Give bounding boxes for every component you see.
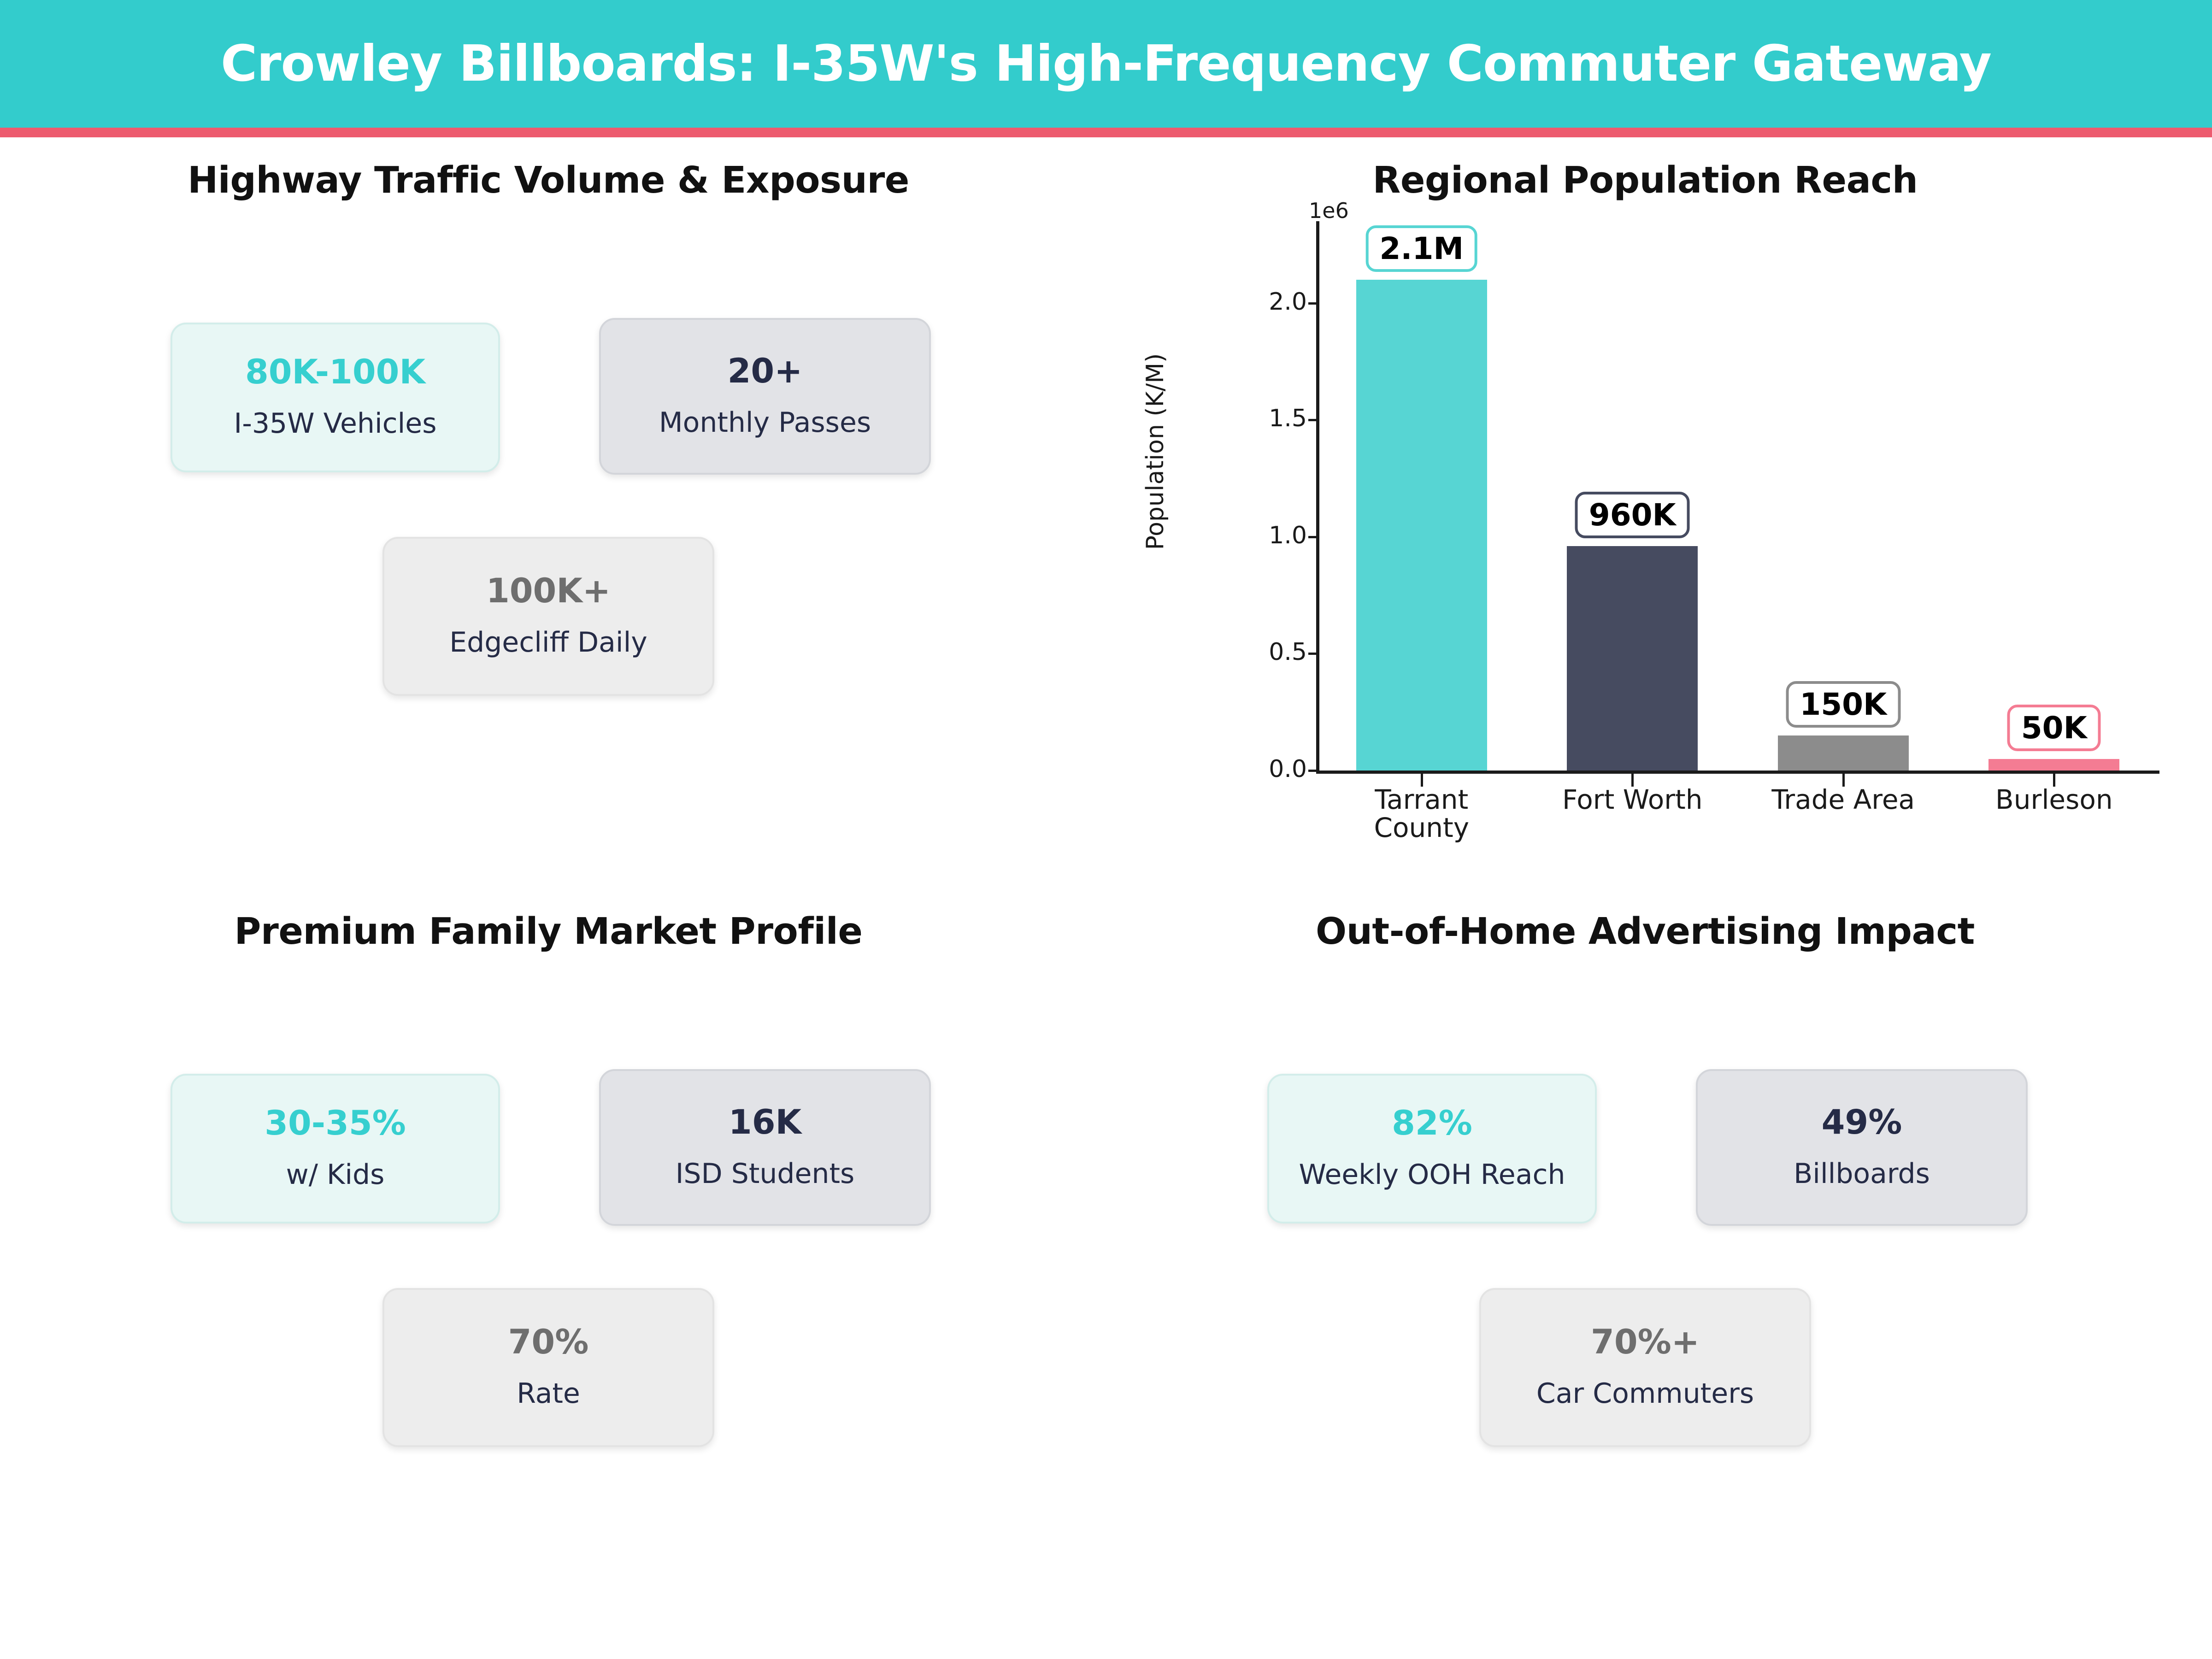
bar-4 [1988,759,2119,771]
x-tick-label-3: Trade Area [1771,786,1915,814]
panel-title-family-market: Premium Family Market Profile [28,910,1069,953]
stat-value: 70% [508,1325,589,1359]
stat-card-rate: 70% Rate [382,1288,714,1447]
bar-1 [1356,280,1487,771]
stat-label: Edgecliff Daily [449,626,647,659]
header-bar: Crowley Billboards: I-35W's High-Frequen… [0,0,2212,128]
stat-card-billboards: 49% Billboards [1696,1069,2028,1226]
y-tick-label: 1.5 [1259,405,1307,432]
bar-value-label-2: 960K [1575,492,1690,538]
stat-card-isd-students: 16K ISD Students [599,1069,931,1226]
axis-offset-label: 1e6 [1309,198,1349,223]
bar-value-label-1: 2.1M [1365,225,1477,272]
stat-label: Car Commuters [1536,1377,1754,1410]
y-axis-label: Population (K/M) [1141,309,1169,594]
stat-label: ISD Students [676,1158,855,1190]
stat-value: 30-35% [265,1106,406,1140]
stat-label: I-35W Vehicles [234,407,437,440]
stat-value: 16K [729,1106,801,1139]
bar-value-label-3: 150K [1786,681,1900,728]
x-tick-label-2: Fort Worth [1562,786,1703,814]
stat-card-car-commuters: 70%+ Car Commuters [1479,1288,1811,1447]
y-tick-label: 0.0 [1259,755,1307,783]
stat-card-weekly-ooh-reach: 82% Weekly OOH Reach [1267,1074,1597,1224]
panel-family-market: Premium Family Market Profile 30-35% w/ … [28,910,1069,1601]
panel-title-ooh-impact: Out-of-Home Advertising Impact [1124,910,2166,953]
chart-title: Regional Population Reach [1124,159,2166,201]
x-axis-spine [1316,771,2159,774]
stat-value: 100K+ [486,574,611,608]
bar-2 [1567,546,1698,771]
stat-card-monthly-passes: 20+ Monthly Passes [599,318,931,475]
stat-value: 80K-100K [245,355,425,389]
y-tick-mark [1308,419,1316,421]
y-tick-mark [1308,770,1316,772]
stat-label: Billboards [1794,1158,1930,1190]
header-accent-rule [0,128,2212,137]
stat-card-with-kids: 30-35% w/ Kids [171,1074,500,1224]
stat-value: 49% [1822,1106,1902,1139]
population-bar-chart: 1e6 Population (K/M) 0.00.51.01.52.02.1M… [1124,198,2180,871]
y-tick-label: 2.0 [1259,288,1307,316]
y-tick-mark [1308,653,1316,655]
stat-label: Monthly Passes [659,406,871,439]
stat-label: Weekly OOH Reach [1299,1159,1565,1191]
y-tick-mark [1308,536,1316,538]
y-tick-label: 0.5 [1259,638,1307,666]
stat-label: Rate [517,1377,580,1410]
panel-title-highway-traffic: Highway Traffic Volume & Exposure [28,159,1069,201]
stat-card-i35w-vehicles: 80K-100K I-35W Vehicles [171,323,500,472]
stat-card-edgecliff-daily: 100K+ Edgecliff Daily [382,537,714,696]
stat-label: w/ Kids [286,1159,385,1191]
stat-value: 70%+ [1591,1325,1700,1359]
bar-3 [1778,735,1909,771]
x-tick-label-4: Burleson [1995,786,2113,814]
panel-highway-traffic: Highway Traffic Volume & Exposure 80K-10… [28,159,1069,850]
stat-value: 20+ [728,354,803,388]
y-tick-label: 1.0 [1259,522,1307,549]
stat-value: 82% [1392,1106,1472,1140]
panel-ooh-impact: Out-of-Home Advertising Impact 82% Weekl… [1124,910,2166,1601]
page-title: Crowley Billboards: I-35W's High-Frequen… [221,35,1991,93]
x-tick-label-1: Tarrant County [1374,786,1469,842]
bar-value-label-4: 50K [2007,705,2101,751]
y-tick-mark [1308,302,1316,305]
